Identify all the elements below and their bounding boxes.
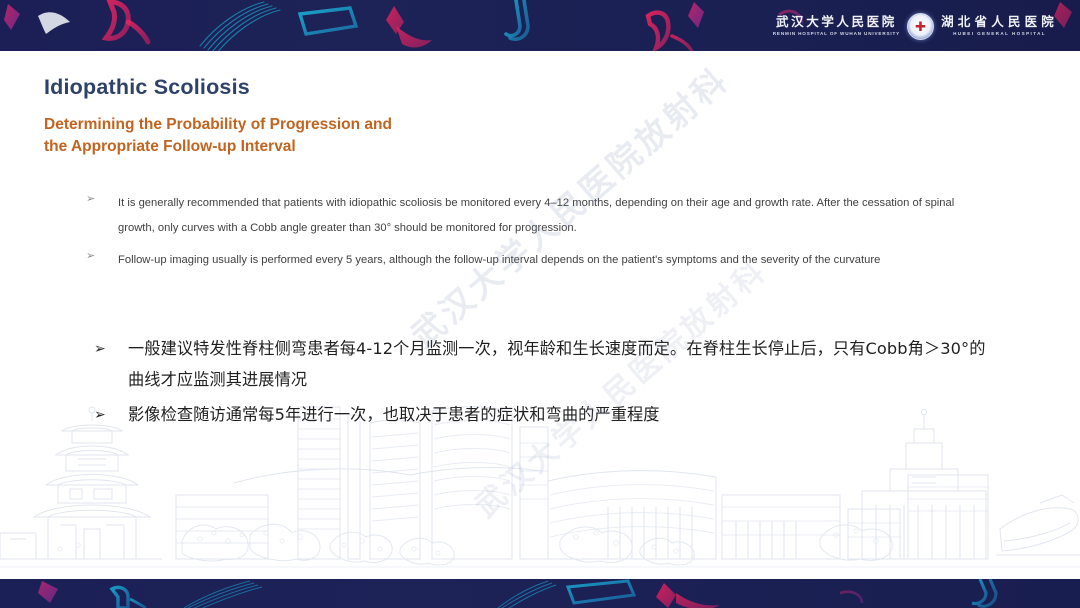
header-bar: 武汉大学人民医院 RENMIN HOSPITAL OF WUHAN UNIVER… [0,0,1080,51]
bullet-arrow-icon: ➢ [94,333,106,364]
page-subtitle: Determining the Probability of Progressi… [44,114,392,158]
footer-decorative-ribbons [0,579,1080,608]
english-bullet-list: ➢ It is generally recommended that patie… [86,191,976,281]
logo-right-english: HUBEI GENERAL HOSPITAL [953,32,1046,37]
list-item: ➢ It is generally recommended that patie… [86,191,976,240]
bullet-arrow-icon: ➢ [94,399,106,430]
hospital-logo: 武汉大学人民医院 RENMIN HOSPITAL OF WUHAN UNIVER… [773,11,1058,41]
english-bullet-text: Follow-up imaging usually is performed e… [118,254,880,266]
footer-bar [0,579,1080,608]
slide-content: Idiopathic Scoliosis Determining the Pro… [0,51,1080,579]
slide-root: 武汉大学人民医院 RENMIN HOSPITAL OF WUHAN UNIVER… [0,0,1080,608]
subtitle-line-2: the Appropriate Follow-up Interval [44,136,392,158]
bullet-arrow-icon: ➢ [86,247,95,265]
logo-left-english: RENMIN HOSPITAL OF WUHAN UNIVERSITY [773,32,900,37]
hospital-emblem-icon: ✚ [907,13,934,40]
bullet-arrow-icon: ➢ [86,190,95,208]
chinese-bullet-text: 影像检查随访通常每5年进行一次，也取决于患者的症状和弯曲的严重程度 [128,405,660,424]
logo-left: 武汉大学人民医院 RENMIN HOSPITAL OF WUHAN UNIVER… [773,16,900,37]
chinese-bullet-text: 一般建议特发性脊柱侧弯患者每4-12个月监测一次，视年龄和生长速度而定。在脊柱生… [128,339,986,389]
list-item: ➢ 影像检查随访通常每5年进行一次，也取决于患者的症状和弯曲的严重程度 [94,399,994,430]
page-title: Idiopathic Scoliosis [44,75,250,100]
list-item: ➢ Follow-up imaging usually is performed… [86,248,976,273]
list-item: ➢ 一般建议特发性脊柱侧弯患者每4-12个月监测一次，视年龄和生长速度而定。在脊… [94,333,994,395]
subtitle-line-1: Determining the Probability of Progressi… [44,114,392,136]
chinese-bullet-list: ➢ 一般建议特发性脊柱侧弯患者每4-12个月监测一次，视年龄和生长速度而定。在脊… [94,333,994,434]
emblem-cross-mark: ✚ [915,20,926,33]
logo-right-chinese: 湖北省人民医院 [941,16,1058,29]
english-bullet-text: It is generally recommended that patient… [118,197,954,234]
logo-right: 湖北省人民医院 HUBEI GENERAL HOSPITAL [941,16,1058,37]
logo-left-chinese: 武汉大学人民医院 [776,16,897,29]
